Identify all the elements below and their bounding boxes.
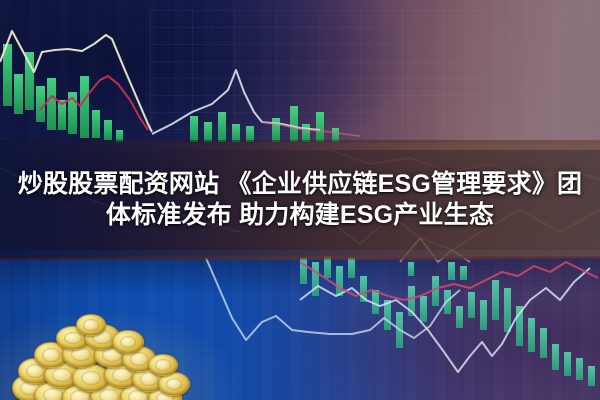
band-bottom-edge bbox=[0, 256, 600, 260]
headline-band: 炒股股票配资网站 《企业供应链ESG管理要求》团 体标准发布 助力构建ESG产业… bbox=[0, 142, 600, 258]
gold-coin-pile bbox=[8, 312, 218, 400]
banner-image: 炒股股票配资网站 《企业供应链ESG管理要求》团 体标准发布 助力构建ESG产业… bbox=[0, 0, 600, 400]
headline-line-1: 炒股股票配资网站 《企业供应链ESG管理要求》团 bbox=[18, 169, 583, 201]
headline-line-2: 体标准发布 助力构建ESG产业生态 bbox=[106, 200, 494, 232]
candles-bottom-right bbox=[300, 256, 595, 386]
